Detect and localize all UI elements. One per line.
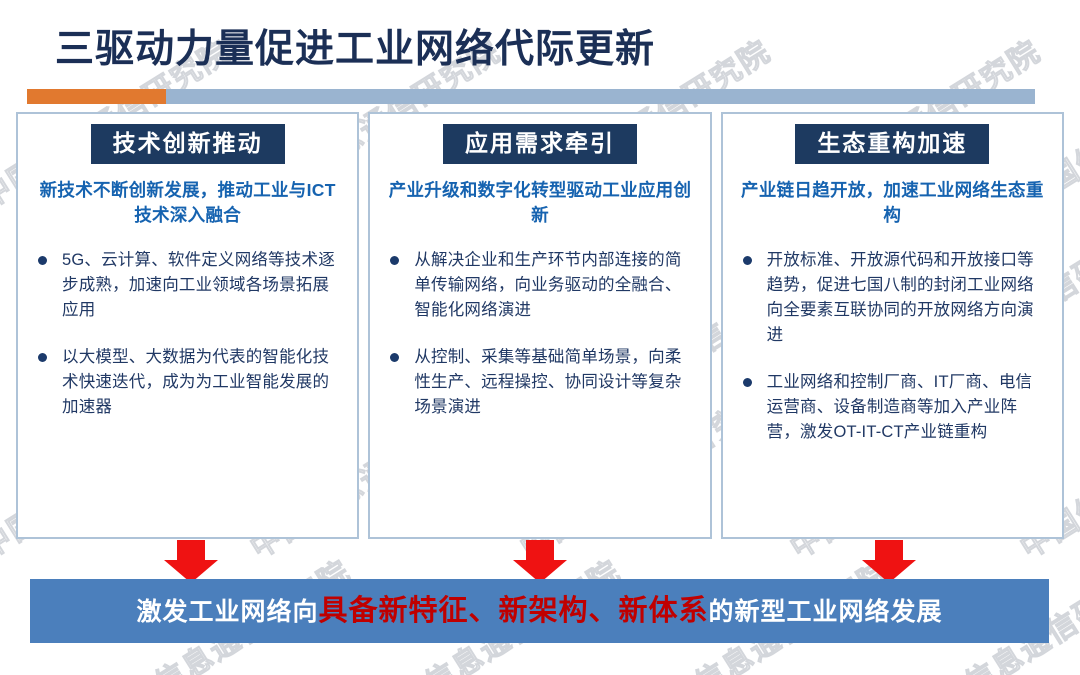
- list-item: 从控制、采集等基础简单场景，向柔性生产、远程操控、协同设计等复杂场景演进: [384, 345, 695, 420]
- arrow-shaft: [875, 540, 903, 561]
- card-content: 应用需求牵引 产业升级和数字化转型驱动工业应用创新 从解决企业和生产环节内部连接…: [370, 114, 709, 537]
- list-item: 5G、云计算、软件定义网络等技术逐步成熟，加速向工业领域各场景拓展应用: [32, 248, 343, 323]
- banner-highlight: 具备新特征、新架构、新体系: [318, 595, 708, 627]
- divider-main-segment: [166, 89, 1035, 104]
- bullet-dot-icon: [743, 256, 752, 265]
- arrow-cell: [16, 540, 365, 584]
- card-bullet-list: 从解决企业和生产环节内部连接的简单传输网络，向业务驱动的全融合、智能化网络演进 …: [384, 248, 695, 420]
- card-technology-innovation[interactable]: 技术创新推动 新技术不断创新发展，推动工业与ICT技术深入融合 5G、云计算、软…: [16, 112, 359, 539]
- card-subtitle: 产业升级和数字化转型驱动工业应用创新: [384, 178, 695, 228]
- arrows-row: [16, 540, 1064, 584]
- banner-suffix: 的新型工业网络发展: [709, 598, 943, 626]
- card-subtitle: 新技术不断创新发展，推动工业与ICT技术深入融合: [32, 178, 343, 228]
- bullet-text: 工业网络和控制厂商、IT厂商、电信运营商、设备制造商等加入产业阵营，激发OT-I…: [767, 373, 1033, 441]
- page-title: 三驱动力量促进工业网络代际更新: [55, 18, 655, 74]
- bullet-dot-icon: [38, 256, 47, 265]
- arrow-cell: [715, 540, 1064, 584]
- banner-prefix: 激发工业网络向: [136, 598, 318, 626]
- conclusion-banner-text: 激发工业网络向具备新特征、新架构、新体系的新型工业网络发展: [136, 597, 942, 626]
- card-ecosystem-restructuring[interactable]: 生态重构加速 产业链日趋开放，加速工业网络生态重构 开放标准、开放源代码和开放接…: [721, 112, 1064, 539]
- divider-bar: [27, 89, 1035, 104]
- conclusion-banner: 激发工业网络向具备新特征、新架构、新体系的新型工业网络发展: [30, 579, 1049, 643]
- bullet-text: 开放标准、开放源代码和开放接口等趋势，促进七国八制的封闭工业网络向全要素互联协同…: [767, 251, 1034, 344]
- card-application-demand[interactable]: 应用需求牵引 产业升级和数字化转型驱动工业应用创新 从解决企业和生产环节内部连接…: [368, 112, 711, 539]
- bullet-text: 从解决企业和生产环节内部连接的简单传输网络，向业务驱动的全融合、智能化网络演进: [414, 251, 681, 319]
- bullet-dot-icon: [390, 256, 399, 265]
- list-item: 开放标准、开放源代码和开放接口等趋势，促进七国八制的封闭工业网络向全要素互联协同…: [737, 248, 1048, 348]
- cards-row: 技术创新推动 新技术不断创新发展，推动工业与ICT技术深入融合 5G、云计算、软…: [16, 112, 1064, 539]
- down-arrow-icon: [513, 540, 567, 582]
- title-area: 三驱动力量促进工业网络代际更新: [0, 0, 1080, 108]
- card-badge: 生态重构加速: [795, 124, 989, 164]
- list-item: 以大模型、大数据为代表的智能化技术快速迭代，成为为工业智能发展的加速器: [32, 345, 343, 420]
- list-item: 工业网络和控制厂商、IT厂商、电信运营商、设备制造商等加入产业阵营，激发OT-I…: [737, 370, 1048, 445]
- arrow-cell: [365, 540, 714, 584]
- arrow-shaft: [526, 540, 554, 561]
- card-content: 生态重构加速 产业链日趋开放，加速工业网络生态重构 开放标准、开放源代码和开放接…: [723, 114, 1062, 537]
- down-arrow-icon: [164, 540, 218, 582]
- card-subtitle: 产业链日趋开放，加速工业网络生态重构: [737, 178, 1048, 228]
- card-bullet-list: 开放标准、开放源代码和开放接口等趋势，促进七国八制的封闭工业网络向全要素互联协同…: [737, 248, 1048, 446]
- bullet-dot-icon: [743, 378, 752, 387]
- bullet-dot-icon: [390, 353, 399, 362]
- bullet-text: 以大模型、大数据为代表的智能化技术快速迭代，成为为工业智能发展的加速器: [62, 348, 329, 416]
- card-badge: 技术创新推动: [91, 124, 285, 164]
- bullet-text: 5G、云计算、软件定义网络等技术逐步成熟，加速向工业领域各场景拓展应用: [62, 251, 335, 319]
- bullet-dot-icon: [38, 353, 47, 362]
- card-badge: 应用需求牵引: [443, 124, 637, 164]
- list-item: 从解决企业和生产环节内部连接的简单传输网络，向业务驱动的全融合、智能化网络演进: [384, 248, 695, 323]
- down-arrow-icon: [862, 540, 916, 582]
- card-bullet-list: 5G、云计算、软件定义网络等技术逐步成熟，加速向工业领域各场景拓展应用 以大模型…: [32, 248, 343, 420]
- divider-accent-segment: [27, 89, 166, 104]
- card-content: 技术创新推动 新技术不断创新发展，推动工业与ICT技术深入融合 5G、云计算、软…: [18, 114, 357, 537]
- arrow-shaft: [177, 540, 205, 561]
- bullet-text: 从控制、采集等基础简单场景，向柔性生产、远程操控、协同设计等复杂场景演进: [414, 348, 681, 416]
